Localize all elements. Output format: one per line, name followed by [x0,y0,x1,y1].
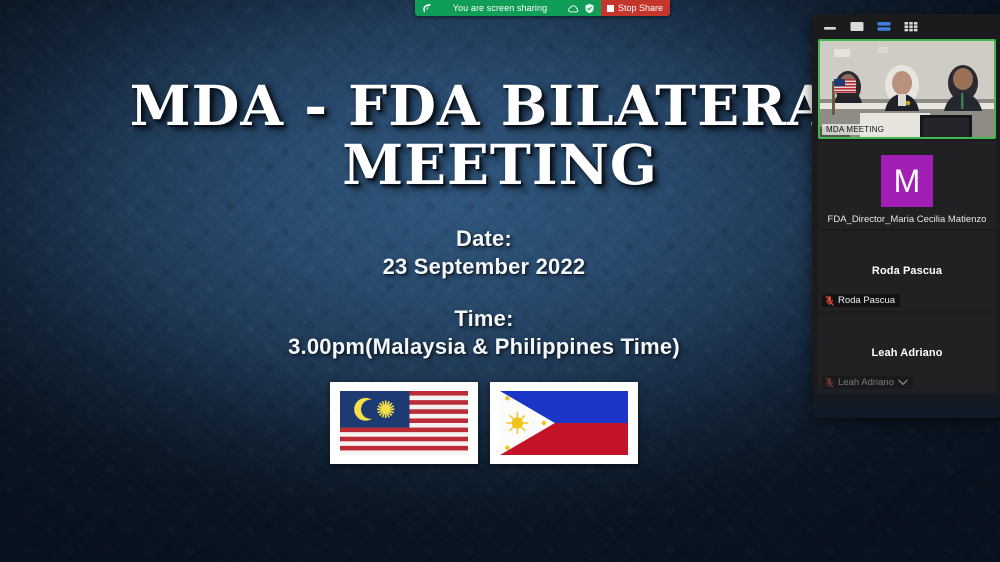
nametag-label: Roda Pascua [838,295,895,306]
minimize-icon[interactable] [822,20,838,33]
participant-tile[interactable]: Roda Pascua Roda Pascua [818,231,996,311]
stop-share-label: Stop Share [618,3,663,13]
participant-tile[interactable]: M FDA_Director_Maria Cecilia Matienzo [818,141,996,229]
nametag-label: Leah Adriano [838,377,894,388]
side-by-side-icon[interactable] [876,20,892,33]
chevron-down-icon[interactable] [898,379,908,386]
stop-share-button[interactable]: Stop Share [601,0,670,16]
zoom-leaf-icon [421,3,432,14]
philippines-flag [500,391,628,455]
grid-view-icon[interactable] [903,20,919,33]
screen-share-bar: You are screen sharing Stop Share [415,0,670,16]
share-status-area: You are screen sharing [415,0,601,16]
participant-nametag: Roda Pascua [822,294,900,307]
participant-name: Roda Pascua [818,265,996,277]
zoom-participant-panel[interactable]: MDA MEETING M FDA_Director_Maria Cecilia… [812,14,1000,418]
malaysia-flag-frame [330,382,478,464]
participant-nametag: Leah Adriano [822,376,913,389]
active-speaker-video-tile[interactable]: MDA MEETING [818,39,996,139]
video-label: MDA MEETING [822,124,888,135]
microphone-muted-icon [825,295,834,306]
avatar: M [881,155,933,207]
panel-layout-toolbar [812,14,1000,38]
participant-tile[interactable]: Leah Adriano Leah Adriano [818,313,996,393]
participant-name: Leah Adriano [818,347,996,359]
stop-square-icon [607,5,614,12]
cloud-recording-icon[interactable] [568,3,579,14]
microphone-muted-icon [825,377,834,388]
participant-name: FDA_Director_Maria Cecilia Matienzo [818,214,996,225]
security-shield-icon[interactable] [584,3,595,14]
single-screen-icon[interactable] [849,20,865,33]
malaysia-flag [340,391,468,455]
philippines-flag-frame [490,382,638,464]
share-status-text: You are screen sharing [437,3,563,13]
